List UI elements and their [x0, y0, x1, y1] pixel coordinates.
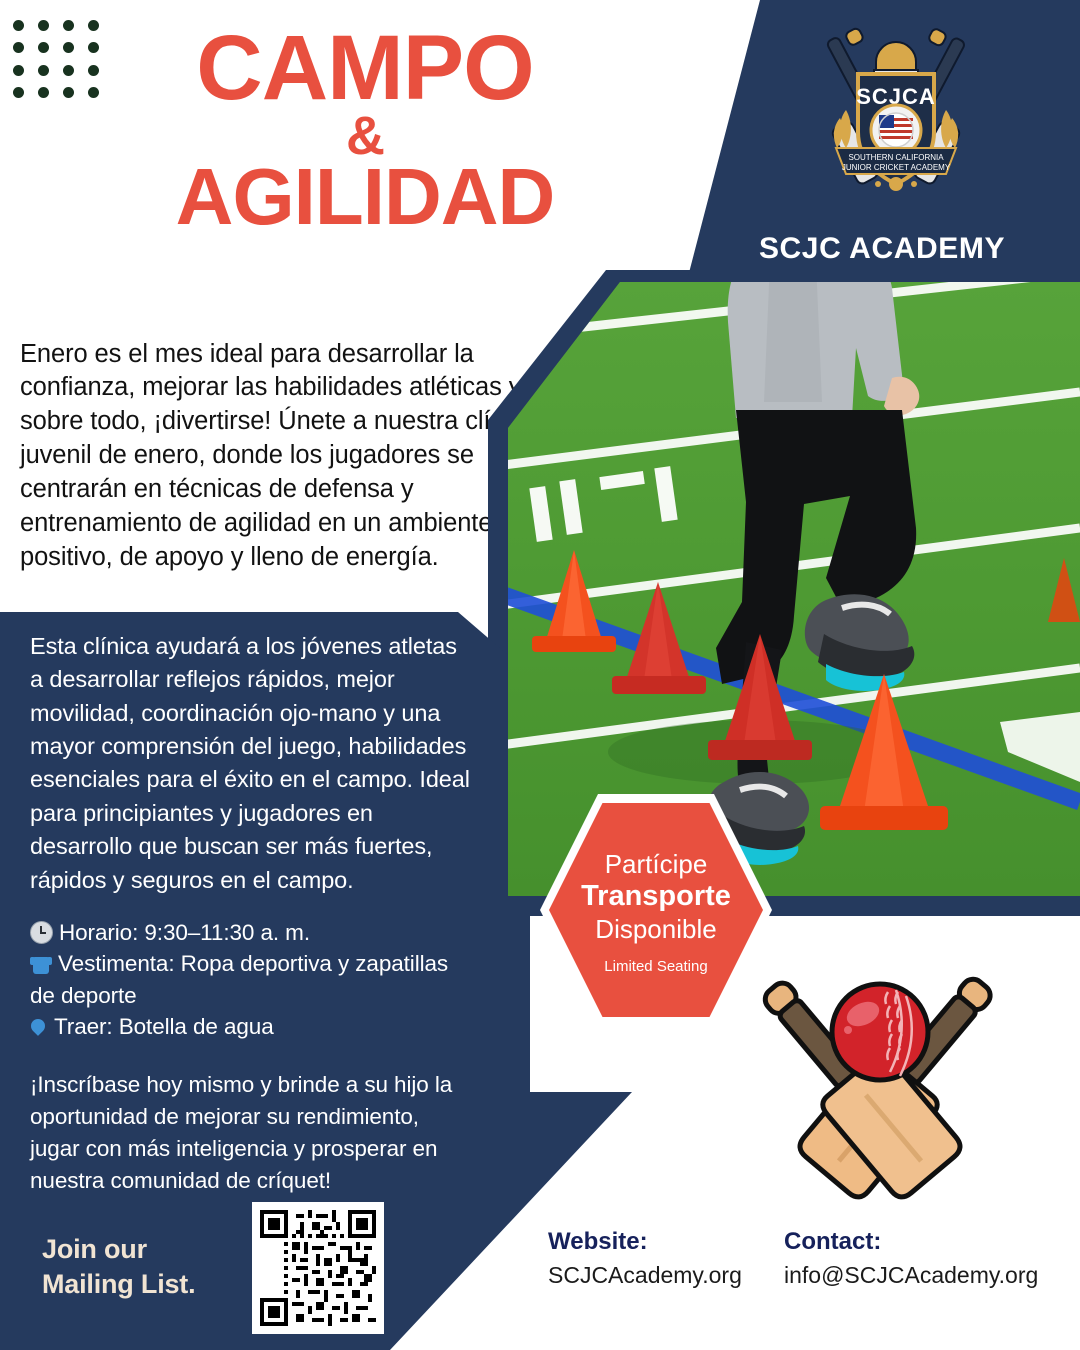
- contact-value[interactable]: info@SCJCAcademy.org: [784, 1262, 1038, 1290]
- title-line-2: AGILIDAD: [130, 162, 600, 232]
- details-list: Horario: 9:30–11:30 a. m. Vestimenta: Ro…: [30, 917, 470, 1043]
- contact-label: Contact:: [784, 1228, 1038, 1257]
- panel-paragraph: Esta clínica ayudará a los jóvenes atlet…: [30, 630, 470, 897]
- detail-bring-text: Traer: Botella de agua: [54, 1014, 274, 1039]
- badge-line-3: Disponible: [595, 914, 716, 945]
- water-drop-icon: [30, 1017, 46, 1038]
- mailing-list-line-2: Mailing List.: [42, 1267, 195, 1302]
- dot-grid-decoration: [6, 14, 106, 104]
- website-block: Website: SCJCAcademy.org: [548, 1228, 742, 1289]
- badge-line-4: Limited Seating: [604, 958, 707, 975]
- mailing-list-label: Join our Mailing List.: [42, 1232, 195, 1301]
- detail-bring: Traer: Botella de agua: [30, 1011, 470, 1043]
- academy-name: SCJC ACADEMY: [684, 232, 1080, 266]
- detail-attire-text: Vestimenta: Ropa deportiva y zapatillas …: [30, 951, 448, 1008]
- svg-text:JUNIOR CRICKET ACADEMY: JUNIOR CRICKET ACADEMY: [842, 163, 951, 172]
- shirt-icon: [30, 955, 52, 975]
- panel-closing-paragraph: ¡Inscríbase hoy mismo y brinde a su hijo…: [30, 1069, 470, 1197]
- flyer-poster: CAMPO & AGILIDAD Enero es el mes ideal p…: [0, 0, 1080, 1350]
- contact-block: Contact: info@SCJCAcademy.org: [784, 1228, 1038, 1289]
- website-value[interactable]: SCJCAcademy.org: [548, 1262, 742, 1290]
- website-label: Website:: [548, 1228, 742, 1257]
- page-title: CAMPO & AGILIDAD: [130, 28, 600, 233]
- badge-line-2: Transporte: [581, 879, 731, 913]
- intro-paragraph: Enero es el mes ideal para desarrollar l…: [20, 338, 550, 575]
- detail-schedule-text: Horario: 9:30–11:30 a. m.: [59, 920, 310, 945]
- mailing-list-line-1: Join our: [42, 1232, 195, 1267]
- scjca-logo: SCJCA SOUTHERN CALIFORNIA JUNI: [800, 18, 992, 210]
- detail-attire: Vestimenta: Ropa deportiva y zapatillas …: [30, 948, 470, 1011]
- transport-badge: Partícipe Transporte Disponible Limited …: [540, 794, 772, 1026]
- clock-icon: [30, 921, 53, 944]
- title-line-1: CAMPO: [130, 28, 600, 109]
- qr-code[interactable]: [252, 1202, 384, 1334]
- detail-schedule: Horario: 9:30–11:30 a. m.: [30, 917, 470, 949]
- details-panel-content: Esta clínica ayudará a los jóvenes atlet…: [30, 630, 470, 1197]
- svg-text:SOUTHERN CALIFORNIA: SOUTHERN CALIFORNIA: [848, 153, 944, 162]
- badge-line-1: Partícipe: [605, 849, 708, 880]
